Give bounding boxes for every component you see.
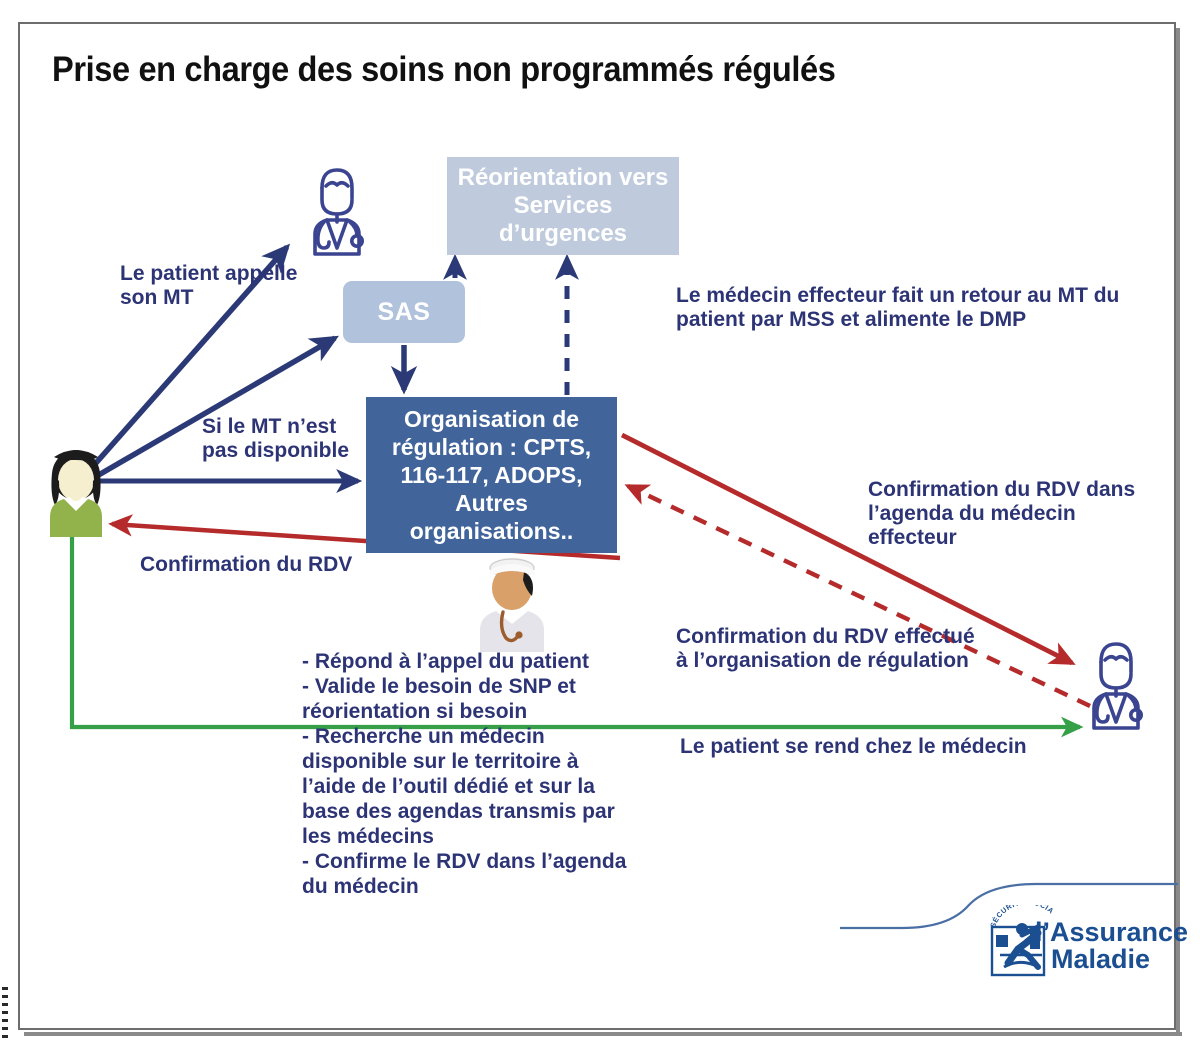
box-organisation-line4: Autres	[392, 489, 591, 517]
logo-line2: Maladie	[1051, 946, 1195, 973]
box-organisation-line1: Organisation de	[392, 405, 591, 433]
slide-canvas: Prise en charge des soins non programmés…	[0, 0, 1200, 1052]
box-organisation-line3: 116-117, ADOPS,	[392, 461, 591, 489]
box-organisation-line2: régulation : CPTS,	[392, 433, 591, 461]
box-sas-label: SAS	[378, 298, 431, 327]
box-urgences-line3: d’urgences	[458, 220, 669, 248]
label-patient-calls-mt: Le patient appelle son MT	[120, 262, 310, 310]
logo-wordmark: l’Assurance Maladie	[1035, 919, 1195, 973]
task-item: - Valide le besoin de SNP et réorientati…	[302, 675, 632, 725]
box-urgences-line1: Réorientation vers	[458, 164, 669, 192]
task-item: - Répond à l’appel du patient	[302, 650, 632, 675]
box-urgences-line2: Services	[458, 192, 669, 220]
label-confirmation-agenda-effecteur: Confirmation du RDV dans l’agenda du méd…	[868, 478, 1158, 550]
label-patient-goes-to-doctor: Le patient se rend chez le médecin	[680, 735, 1150, 759]
box-organisation-regulation: Organisation de régulation : CPTS, 116-1…	[366, 397, 617, 553]
label-mt-not-available: Si le MT n’est pas disponible	[202, 415, 377, 463]
regulator-tasks-list: - Répond à l’appel du patient - Valide l…	[302, 650, 632, 900]
label-confirmation-to-organisation: Confirmation du RDV effectué à l’organis…	[676, 625, 976, 673]
doctor-mt-icon	[289, 158, 385, 258]
slide-frame-shadow-bottom	[24, 1032, 1182, 1036]
box-organisation-line5: organisations..	[392, 517, 591, 545]
box-reorientation-urgences: Réorientation vers Services d’urgences	[447, 157, 679, 255]
page-title: Prise en charge des soins non programmés…	[52, 50, 982, 90]
edge-marks	[2, 985, 10, 1045]
patient-avatar	[36, 447, 116, 537]
label-doctor-returns-to-mt: Le médecin effecteur fait un retour au M…	[676, 284, 1136, 332]
box-sas: SAS	[343, 281, 465, 343]
task-item: - Recherche un médecin disponible sur le…	[302, 725, 632, 850]
label-confirmation-rdv: Confirmation du RDV	[140, 553, 400, 577]
doctor-effector-icon	[1068, 632, 1164, 732]
logo-line1: l’Assurance	[1035, 917, 1188, 947]
task-item: - Confirme le RDV dans l’agenda du médec…	[302, 850, 632, 900]
regulator-avatar	[466, 556, 558, 652]
